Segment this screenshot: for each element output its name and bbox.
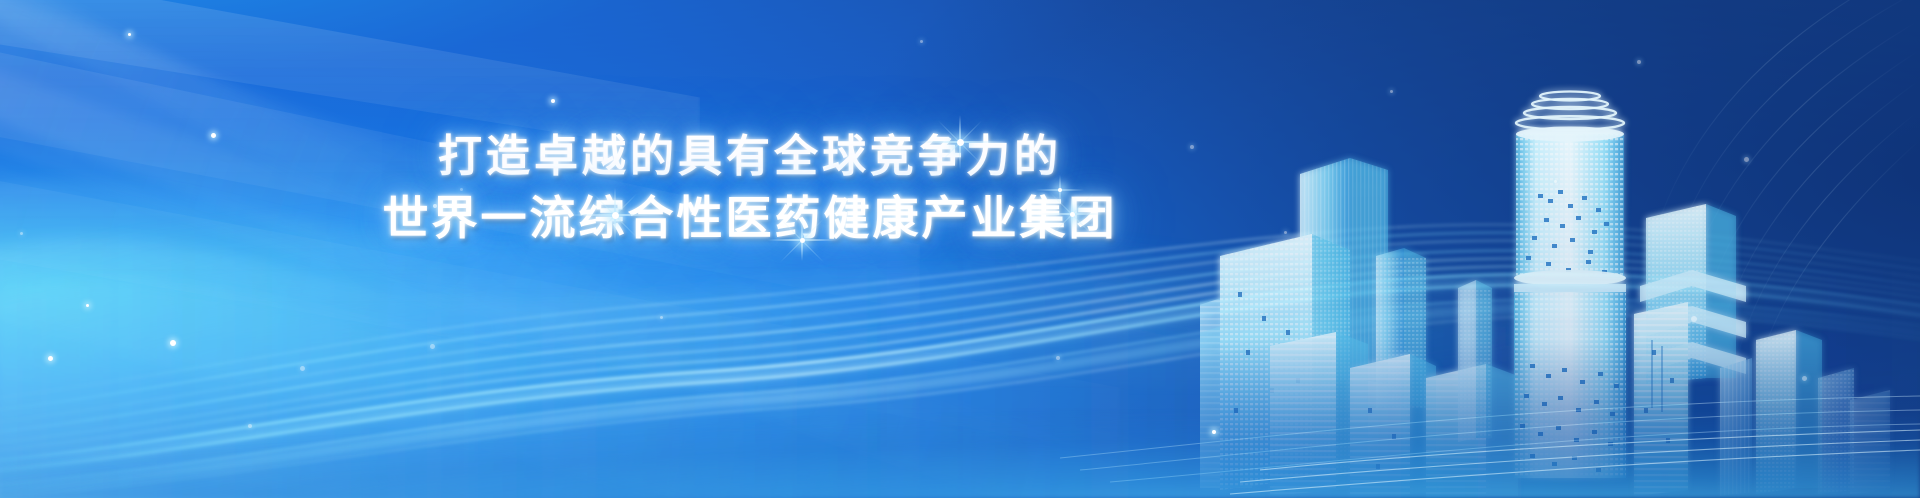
particle [170,340,176,346]
particle [86,304,89,307]
particle [551,99,555,103]
headline-line-1: 打造卓越的具有全球竞争力的 [0,126,1500,188]
building-stepped-left [1350,354,1436,498]
hero-banner: 打造卓越的具有全球竞争力的 世界一流综合性医药健康产业集团 [0,0,1920,498]
particle [920,40,923,43]
particle [1637,60,1641,64]
particle [128,33,131,36]
building-foreground-spire [1458,280,1492,442]
headline-line-2: 世界一流综合性医药健康产业集团 [0,188,1500,250]
particle [660,316,663,319]
building-far-right-cluster [1720,330,1854,496]
headline-block: 打造卓越的具有全球竞争力的 世界一流综合性医药健康产业集团 [0,126,1500,250]
building-right-rows [1634,302,1688,496]
central-cylindrical-tower [1514,92,1626,479]
